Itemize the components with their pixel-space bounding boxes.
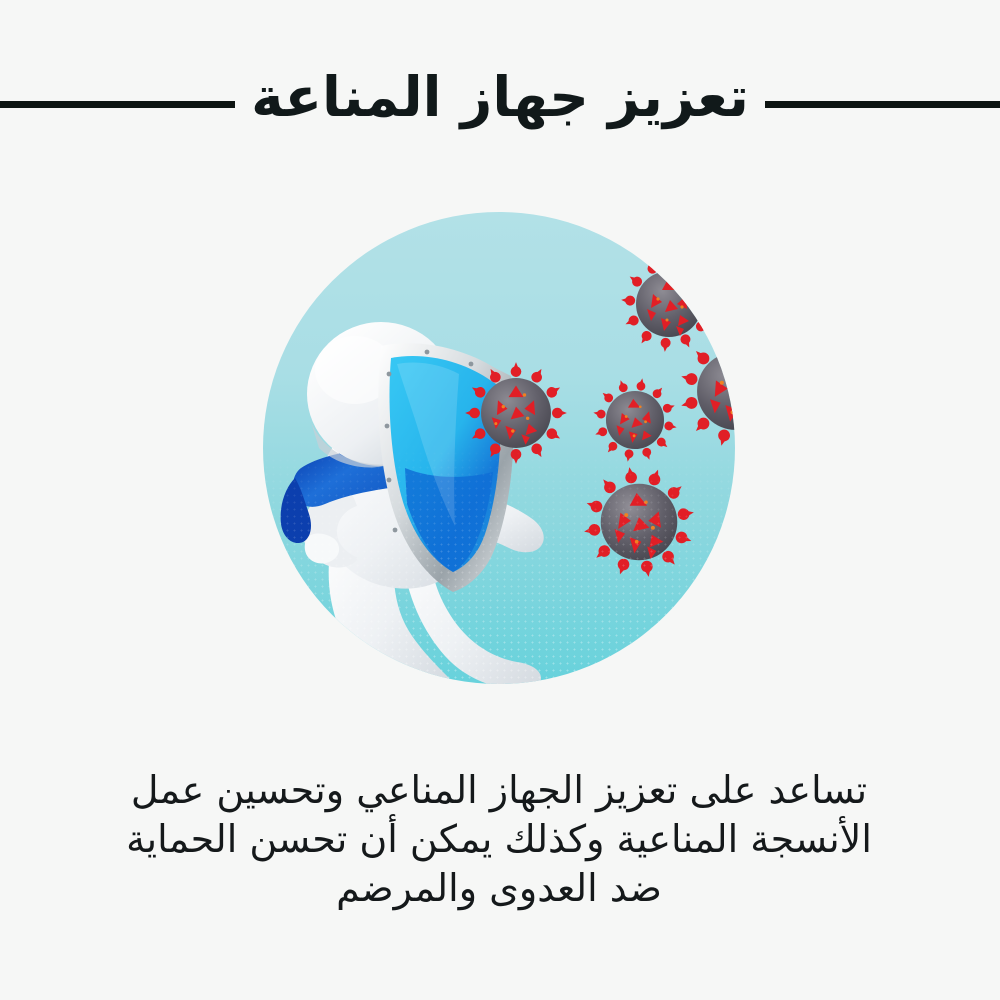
horizontal-rule-right [0,101,236,108]
virus-particle-2 [592,376,680,464]
body-line-3: ضد العدوى والمرضم [50,864,950,913]
illustration-scene [264,212,736,684]
body-line-2: الأنسجة المناعية وكذلك يمكن أن تحسن الحم… [50,815,950,864]
body-line-1: تساعد على تعزيز الجهاز المناعي وتحسين عم… [50,766,950,815]
virus-particle-4 [678,332,736,450]
infographic-card: تعزيز جهاز المناعة [0,0,1000,1000]
virus-particle-5 [582,464,698,580]
shield-character [264,292,550,684]
header: تعزيز جهاز المناعة [0,56,1000,152]
body-paragraph: تساعد على تعزيز الجهاز المناعي وتحسين عم… [50,766,950,913]
page-title: تعزيز جهاز المناعة [236,70,766,139]
virus-particle-1 [464,360,570,466]
illustration-circle [264,212,736,684]
horizontal-rule-left [766,101,1000,108]
